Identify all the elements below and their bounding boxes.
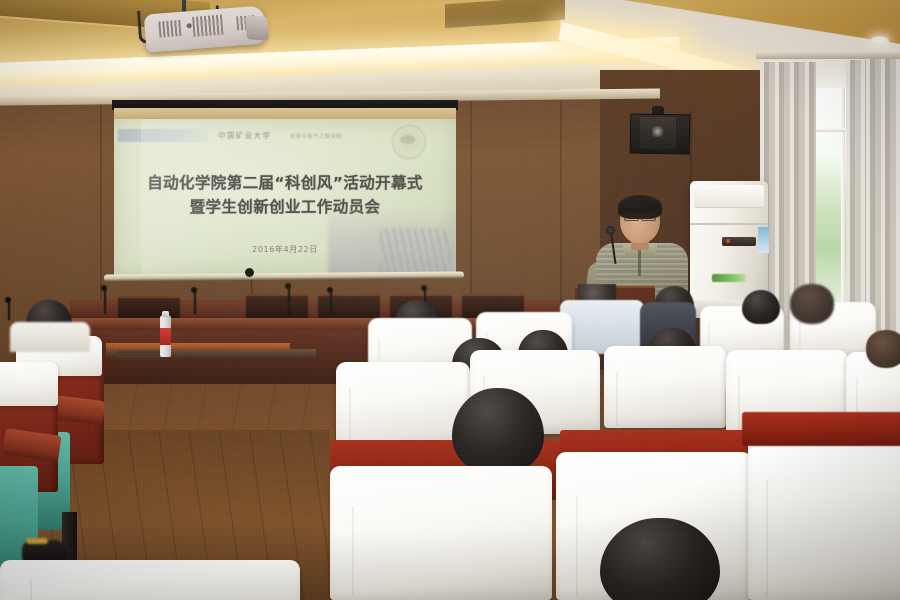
microphone-icon: [194, 290, 196, 314]
projection-screen: 中国矿业大学 信息与电气工程学院 自动化学院第二届“科创风”活动开幕式 暨学生创…: [114, 119, 456, 276]
microphone-head: [5, 297, 11, 303]
speaker-bracket: [652, 106, 664, 114]
air-conditioner-energy-label: [758, 227, 769, 253]
microphone-head: [421, 285, 427, 291]
auditorium-seat-headrest-cover: [0, 362, 58, 406]
window-mullion-vertical: [841, 88, 845, 318]
microphone-icon: [104, 288, 106, 314]
wall-seam: [690, 110, 692, 190]
water-bottle-cap: [162, 311, 169, 317]
microphone-head: [101, 285, 107, 291]
audience-shoe-stripe: [26, 538, 48, 544]
projector-lens: [245, 15, 269, 40]
speaker-cone: [652, 126, 663, 137]
projector-vent: [158, 20, 181, 38]
lecture-hall-photo: 中国矿业大学 信息与电气工程学院 自动化学院第二届“科创风”活动开幕式 暨学生创…: [0, 0, 900, 600]
audience-head: [452, 388, 544, 474]
microphone-icon: [288, 286, 290, 318]
microphone-head: [191, 287, 197, 293]
speaker-shirt-placket: [638, 250, 641, 276]
air-conditioner-logo: [712, 274, 746, 282]
downlight-icon: [870, 36, 889, 45]
audience-chair-cover: [330, 466, 552, 600]
eyeglasses-icon: [641, 213, 656, 221]
dais-desk-papers: [118, 351, 164, 358]
wall-seam: [100, 100, 102, 300]
audience-head: [866, 330, 900, 368]
audience-chair-frame: [742, 412, 900, 446]
air-conditioner-seam: [690, 223, 768, 225]
audience-chair-cover: [604, 346, 726, 428]
water-bottle-label: [160, 328, 171, 345]
emblem-inner-mark: [400, 135, 415, 144]
screen-glare: [141, 119, 329, 276]
microphone-icon: [330, 290, 332, 316]
microphone-head: [327, 287, 333, 293]
audience-chair-cover: [336, 362, 470, 448]
wall-seam: [470, 100, 472, 300]
slide-photo-watermark-detail: [380, 228, 450, 274]
audience-chair-cover: [748, 428, 900, 600]
curtain-rod: [756, 52, 900, 59]
eyeglasses-bridge: [637, 215, 641, 216]
microphone-head: [285, 283, 291, 289]
audience-head: [742, 290, 780, 324]
audience-chair-cover: [0, 560, 300, 600]
microphone-head: [606, 226, 615, 235]
screen-pull-handle[interactable]: [245, 268, 254, 277]
audience-shoulders: [10, 322, 90, 352]
microphone-icon: [8, 300, 10, 320]
wall-seam: [560, 100, 562, 300]
audience-head: [790, 284, 834, 324]
air-conditioner-grille: [694, 185, 764, 208]
projector-vent: [192, 15, 223, 37]
air-conditioner-indicator: [726, 239, 730, 243]
projector-indicator: [187, 23, 192, 28]
